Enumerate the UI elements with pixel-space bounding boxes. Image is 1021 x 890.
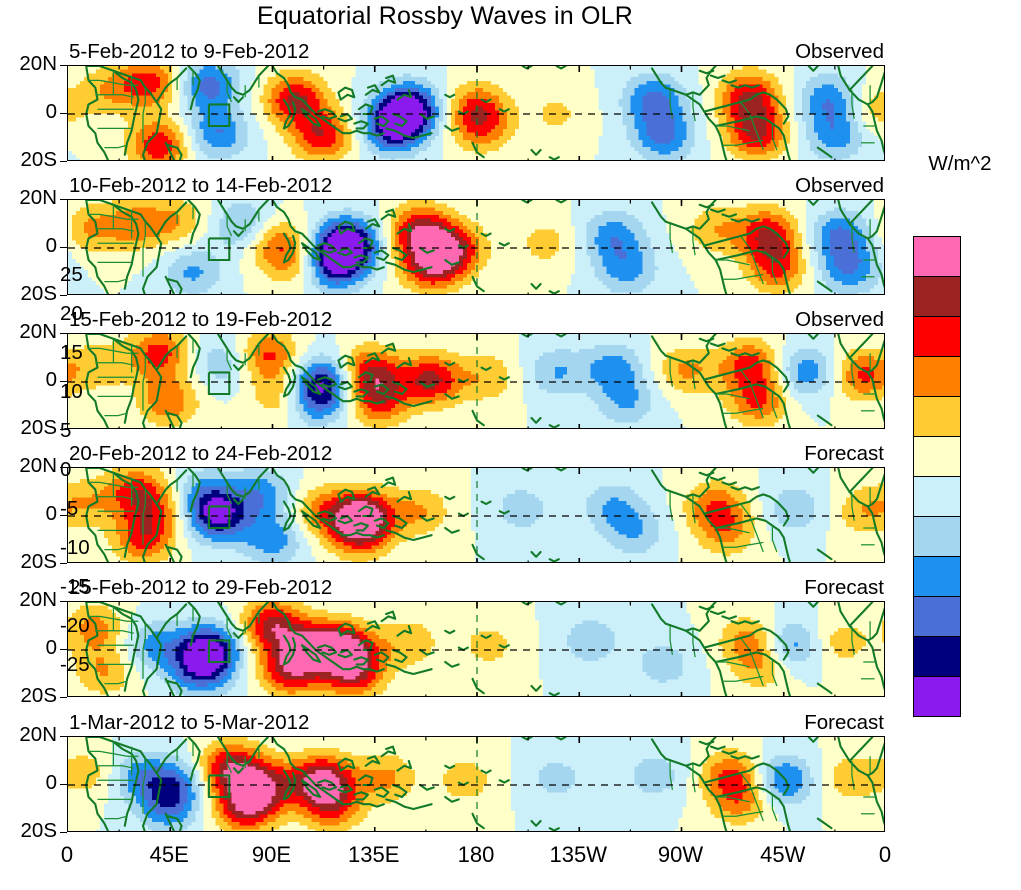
- y-tick-label: 20S: [21, 148, 57, 172]
- page-title: Equatorial Rossby Waves in OLR: [0, 2, 890, 31]
- colorbar: [913, 236, 961, 717]
- y-tick-mark: [60, 697, 67, 698]
- colorbar-tick-label: 5: [60, 419, 71, 443]
- panel-date-range: 20-Feb-2012 to 24-Feb-2012: [69, 442, 332, 466]
- colorbar-swatch: [914, 557, 960, 597]
- colorbar-tick-label: -10: [60, 536, 90, 560]
- colorbar-tick-label: 10: [60, 380, 83, 404]
- y-tick-label: 20N: [19, 186, 57, 210]
- x-axis-labels: 045E90E135E180135W90W45W0: [67, 836, 885, 866]
- x-tick-label: 0: [879, 842, 891, 868]
- y-tick-label: 20N: [19, 454, 57, 478]
- panel-plot-area: [67, 199, 885, 295]
- panel-4: 20-Feb-2012 to 24-Feb-2012Forecast20N020…: [67, 467, 885, 563]
- y-tick-label: 20N: [19, 723, 57, 747]
- x-tick-label: 90W: [658, 842, 703, 868]
- colorbar-swatch: [914, 437, 960, 477]
- panel-status-label: Observed: [795, 308, 884, 332]
- panel-status-label: Observed: [795, 174, 884, 198]
- y-tick-label: 20N: [19, 588, 57, 612]
- panel-plot-area: [67, 601, 885, 697]
- panel-date-range: 25-Feb-2012 to 29-Feb-2012: [69, 576, 332, 600]
- x-tick-label: 180: [458, 842, 495, 868]
- colorbar-unit-label: W/m^2: [905, 152, 1015, 176]
- colorbar-tick-label: -15: [60, 575, 90, 599]
- panel-plot-area: [67, 736, 885, 832]
- y-tick-label: 20S: [21, 550, 57, 574]
- colorbar-swatch: [914, 397, 960, 437]
- x-tick-label: 135W: [550, 842, 607, 868]
- colorbar-swatch: [914, 317, 960, 357]
- panel-date-range: 15-Feb-2012 to 19-Feb-2012: [69, 308, 332, 332]
- y-tick-label: 20S: [21, 282, 57, 306]
- colorbar-swatch: [914, 357, 960, 397]
- y-tick-mark: [60, 832, 67, 833]
- colorbar-swatch: [914, 237, 960, 277]
- y-tick-mark: [60, 563, 67, 564]
- panel-plot-area: [67, 65, 885, 161]
- panel-status-label: Forecast: [804, 442, 884, 466]
- y-tick-mark: [60, 736, 67, 737]
- colorbar-swatch: [914, 637, 960, 677]
- y-tick-label: 20N: [19, 320, 57, 344]
- y-tick-mark: [60, 601, 67, 602]
- colorbar-tick-label: -20: [60, 614, 90, 638]
- colorbar-tick-label: 20: [60, 302, 83, 326]
- panel-5: 25-Feb-2012 to 29-Feb-2012Forecast20N020…: [67, 601, 885, 697]
- x-tick-label: 45E: [150, 842, 189, 868]
- colorbar-swatch: [914, 597, 960, 637]
- x-tick-label: 90E: [252, 842, 291, 868]
- y-tick-label: 0: [46, 502, 57, 526]
- colorbar-tick-label: 15: [60, 341, 83, 365]
- colorbar-swatch: [914, 277, 960, 317]
- colorbar-swatch: [914, 677, 960, 716]
- x-tick-label: 0: [61, 842, 73, 868]
- colorbar-tick-label: 25: [60, 263, 83, 287]
- colorbar-tick-label: 0: [60, 458, 71, 482]
- y-tick-label: 0: [46, 771, 57, 795]
- y-tick-mark: [60, 113, 67, 114]
- y-tick-label: 0: [46, 368, 57, 392]
- y-tick-mark: [60, 247, 67, 248]
- panel-status-label: Forecast: [804, 576, 884, 600]
- panel-6: 1-Mar-2012 to 5-Mar-2012Forecast20N020S0…: [67, 736, 885, 832]
- y-tick-label: 20S: [21, 819, 57, 843]
- y-tick-mark: [60, 161, 67, 162]
- panel-date-range: 10-Feb-2012 to 14-Feb-2012: [69, 174, 332, 198]
- panel-2: 10-Feb-2012 to 14-Feb-2012Observed20N020…: [67, 199, 885, 295]
- x-tick-label: 45W: [760, 842, 805, 868]
- y-tick-mark: [60, 784, 67, 785]
- y-tick-label: 20S: [21, 684, 57, 708]
- y-tick-label: 20S: [21, 416, 57, 440]
- panel-plot-area: [67, 467, 885, 563]
- panel-status-label: Forecast: [804, 711, 884, 735]
- panel-3: 15-Feb-2012 to 19-Feb-2012Observed20N020…: [67, 333, 885, 429]
- panel-status-label: Observed: [795, 40, 884, 64]
- y-tick-mark: [60, 649, 67, 650]
- panel-date-range: 1-Mar-2012 to 5-Mar-2012: [69, 711, 309, 735]
- colorbar-swatch: [914, 477, 960, 517]
- y-tick-mark: [60, 333, 67, 334]
- y-tick-mark: [60, 295, 67, 296]
- y-tick-mark: [60, 65, 67, 66]
- y-tick-label: 0: [46, 234, 57, 258]
- y-tick-label: 0: [46, 636, 57, 660]
- y-tick-mark: [60, 199, 67, 200]
- colorbar-tick-label: -5: [60, 497, 78, 521]
- colorbar-tick-label: -25: [60, 653, 90, 677]
- x-tick-label: 135E: [348, 842, 399, 868]
- y-tick-label: 0: [46, 100, 57, 124]
- colorbar-swatch: [914, 517, 960, 557]
- panel-plot-area: [67, 333, 885, 429]
- panel-1: 5-Feb-2012 to 9-Feb-2012Observed20N020S: [67, 65, 885, 161]
- panel-date-range: 5-Feb-2012 to 9-Feb-2012: [69, 40, 309, 64]
- y-tick-label: 20N: [19, 52, 57, 76]
